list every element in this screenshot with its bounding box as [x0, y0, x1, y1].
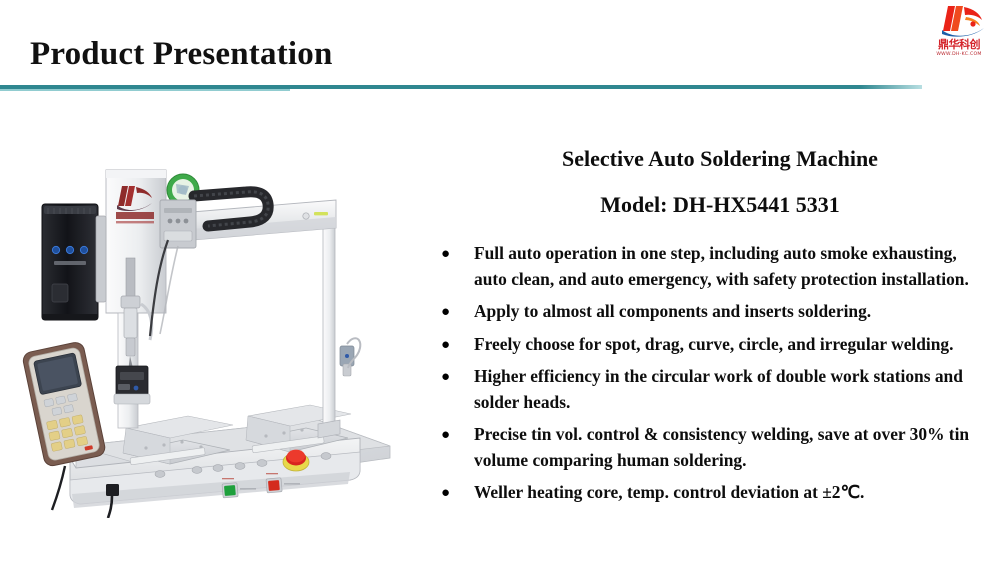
bullet-icon: ●: [441, 242, 450, 268]
bullet-icon: ●: [441, 365, 450, 391]
logo-chinese-name: 鼎华科创: [926, 38, 992, 51]
soldering-machine-illustration: [18, 128, 418, 518]
pneumatic-valve: [340, 338, 360, 376]
pendant-cable: [52, 466, 65, 510]
list-item: ● Full auto operation in one step, inclu…: [436, 241, 992, 292]
list-item: ● Precise tin vol. control & consistency…: [436, 422, 992, 473]
cleaning-station: [114, 366, 150, 404]
title-divider-accent: [0, 89, 290, 91]
feature-text: Apply to almost all components and inser…: [474, 299, 992, 325]
product-photo: [18, 128, 418, 518]
teach-pendant[interactable]: [22, 341, 107, 467]
title-divider-fade: [860, 85, 922, 89]
feature-text: Full auto operation in one step, includi…: [474, 241, 992, 292]
bullet-icon: ●: [441, 481, 450, 507]
feature-text: Freely choose for spot, drag, curve, cir…: [474, 332, 992, 358]
solder-head-carriage: [160, 200, 196, 248]
page-title: Product Presentation: [30, 36, 333, 73]
product-model: Model: DH-HX5441 5331: [455, 192, 985, 218]
slide-root: Product Presentation 鼎华科创 WWW.DH-KC.COM: [0, 0, 1000, 562]
feature-list: ● Full auto operation in one step, inclu…: [436, 241, 992, 513]
list-item: ● Higher efficiency in the circular work…: [436, 364, 992, 415]
start-button[interactable]: [222, 483, 238, 498]
logo-url-text: WWW.DH-KC.COM: [926, 52, 992, 57]
stop-button[interactable]: [266, 478, 282, 493]
bullet-icon: ●: [441, 333, 450, 359]
list-item: ● Weller heating core, temp. control dev…: [436, 480, 992, 506]
feature-text: Weller heating core, temp. control devia…: [474, 480, 992, 506]
feature-text: Precise tin vol. control & consistency w…: [474, 422, 992, 473]
logo-mark-icon: [926, 4, 992, 40]
feature-text: Higher efficiency in the circular work o…: [474, 364, 992, 415]
product-heading: Selective Auto Soldering Machine: [455, 146, 985, 172]
company-logo: 鼎华科创 WWW.DH-KC.COM: [926, 4, 992, 68]
list-item: ● Apply to almost all components and ins…: [436, 299, 992, 325]
bullet-icon: ●: [441, 300, 450, 326]
bullet-icon: ●: [441, 423, 450, 449]
list-item: ● Freely choose for spot, drag, curve, c…: [436, 332, 992, 358]
controller-unit: [42, 204, 106, 320]
